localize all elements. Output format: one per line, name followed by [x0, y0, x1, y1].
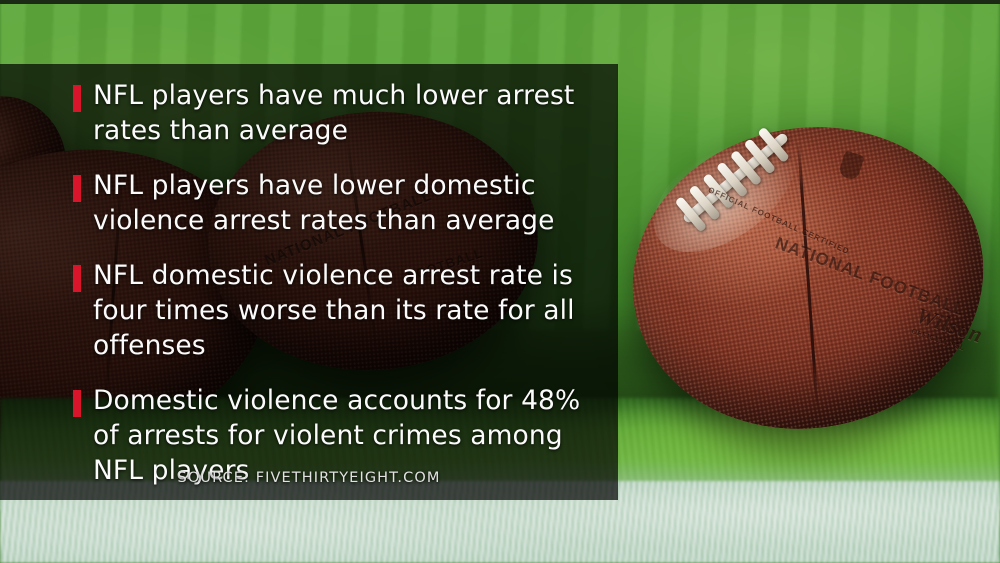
ball-wilson-logo: Wilson OFFICIAL NFL: [911, 303, 987, 357]
ball-seam: [797, 140, 819, 416]
list-item-label: NFL players have lower domestic violence…: [93, 168, 588, 238]
bullet-marker-icon: [73, 85, 81, 112]
top-letterbox-bar: [0, 0, 1000, 4]
list-item: NFL players have lower domestic violence…: [0, 168, 618, 238]
list-item-label: NFL players have much lower arrest rates…: [93, 78, 588, 148]
graphic-canvas: NATIONAL FOOTBALL FOOTBALL OFFICIAL FOOT…: [0, 0, 1000, 563]
bullet-marker-icon: [73, 390, 81, 417]
list-item: NFL domestic violence arrest rate is fou…: [0, 258, 618, 363]
nfl-shield-icon: [838, 150, 865, 181]
bullet-marker-icon: [73, 175, 81, 202]
bullet-marker-icon: [73, 265, 81, 292]
statistics-list: NFL players have much lower arrest rates…: [0, 64, 618, 488]
list-item: NFL players have much lower arrest rates…: [0, 78, 618, 148]
list-item-label: NFL domestic violence arrest rate is fou…: [93, 258, 588, 363]
source-attribution: SOURCE: FIVETHIRTYEIGHT.COM: [0, 470, 618, 486]
